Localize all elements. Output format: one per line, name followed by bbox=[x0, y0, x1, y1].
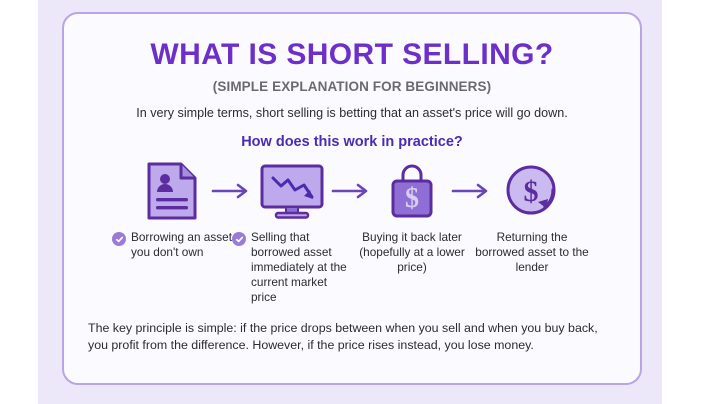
page-subtitle: (SIMPLE EXPLANATION FOR BEGINNERS) bbox=[86, 79, 618, 94]
infographic-page: WHAT IS SHORT SELLING? (SIMPLE EXPLANATI… bbox=[0, 0, 720, 404]
step-icon-row: $ $ bbox=[86, 160, 618, 222]
step-caption-4: Returning the borrowed asset to the lend… bbox=[472, 230, 592, 305]
document-person-icon bbox=[135, 160, 209, 222]
footer-note: The key principle is simple: if the pric… bbox=[88, 320, 616, 355]
section-question: How does this work in practice? bbox=[86, 134, 618, 150]
arrow-right-icon bbox=[209, 179, 255, 203]
arrow-right-icon bbox=[329, 179, 375, 203]
step-caption-1: Borrowing an asset you don't own bbox=[112, 230, 232, 305]
svg-text:$: $ bbox=[524, 175, 539, 208]
arrow-right-icon bbox=[449, 179, 495, 203]
circular-return-dollar-icon: $ bbox=[495, 160, 569, 222]
monitor-declining-chart-icon bbox=[255, 160, 329, 222]
infographic-card: WHAT IS SHORT SELLING? (SIMPLE EXPLANATI… bbox=[62, 12, 642, 385]
check-icon bbox=[232, 232, 246, 246]
step-caption-row: Borrowing an asset you don't own Selling… bbox=[86, 230, 618, 305]
step-caption-text: Returning the borrowed asset to the lend… bbox=[472, 230, 592, 275]
check-icon bbox=[112, 232, 126, 246]
step-caption-text: Borrowing an asset you don't own bbox=[131, 230, 232, 260]
svg-text:$: $ bbox=[405, 183, 419, 214]
intro-text: In very simple terms, short selling is b… bbox=[86, 106, 618, 120]
shopping-bag-dollar-icon: $ bbox=[375, 160, 449, 222]
step-caption-3: Buying it back later (hopefully at a low… bbox=[352, 230, 472, 305]
step-caption-2: Selling that borrowed asset immediately … bbox=[232, 230, 352, 305]
step-caption-text: Buying it back later (hopefully at a low… bbox=[352, 230, 472, 275]
step-caption-text: Selling that borrowed asset immediately … bbox=[251, 230, 352, 305]
page-title: WHAT IS SHORT SELLING? bbox=[86, 38, 618, 71]
